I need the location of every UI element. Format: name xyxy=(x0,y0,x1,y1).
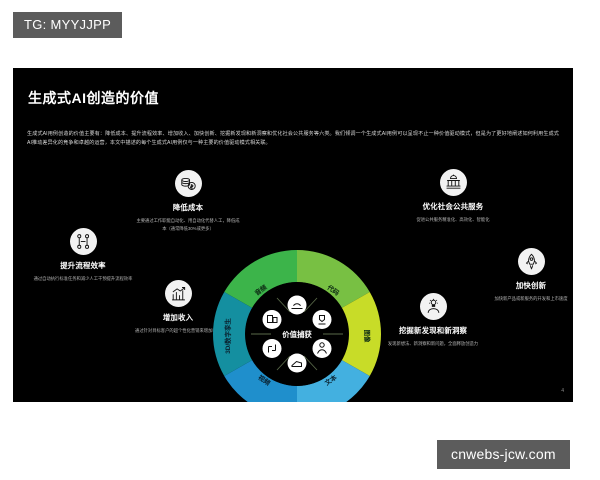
growth-chart-icon xyxy=(165,280,192,307)
donut-center-label: 价值捕获 xyxy=(282,330,312,339)
callout-public-service: 优化社会公共服务 促进公共服务精准化、高效化、智能化 xyxy=(401,169,505,224)
callout-description: 促进公共服务精准化、高效化、智能化 xyxy=(401,216,505,224)
presentation-slide: 生成式AI创造的价值 生成式AI用例创造的价值主要有：降低成本、提升流程效率、增… xyxy=(13,68,573,402)
rocket-icon xyxy=(518,248,545,275)
text-document-icon[interactable] xyxy=(288,354,307,373)
audio-wave-icon[interactable] xyxy=(288,296,307,315)
callout-description: 加快新产品或新服务的开发和上市速度 xyxy=(479,295,573,303)
screenshot-root: TG: MYYJJPP 生成式AI创造的价值 生成式AI用例创造的价值主要有：降… xyxy=(0,0,600,480)
callout-description: 主要通过工作职能自动化、用自动化代替人工，降低成本（通常降低30%或更多） xyxy=(136,217,240,232)
callout-title: 降低成本 xyxy=(136,202,240,213)
video-play-icon[interactable] xyxy=(263,339,282,358)
callout-new-insights: 挖掘新发现和新洞察 发现新想法、新洞察和新问题，全面释放创造力 xyxy=(381,293,485,348)
image-photo-icon[interactable] xyxy=(313,339,332,358)
callout-icon-wrap xyxy=(136,170,240,197)
callout-icon-wrap xyxy=(479,248,573,275)
slide-title: 生成式AI创造的价值 xyxy=(28,88,159,108)
site-watermark-badge: cnwebs-jcw.com xyxy=(437,440,570,469)
coins-money-icon xyxy=(175,170,202,197)
donut-svg: 音频 代码 图像 文本 视频 3D/数字孪生 xyxy=(211,248,383,402)
callout-process-efficiency: 提升流程效率 通过自动执行标准任务和减少人工干预提升流程效率 xyxy=(31,228,135,283)
callout-icon-wrap xyxy=(31,228,135,255)
donut-label-5: 3D/数字孪生 xyxy=(223,318,232,354)
lightbulb-person-icon xyxy=(420,293,447,320)
code-brackets-icon[interactable] xyxy=(313,310,332,329)
callout-accelerate-innovation: 加快创新 加快新产品或新服务的开发和上市速度 xyxy=(479,248,573,303)
callout-title: 加快创新 xyxy=(479,280,573,291)
callout-description: 发现新想法、新洞察和新问题，全面释放创造力 xyxy=(381,340,485,348)
callout-icon-wrap xyxy=(401,169,505,196)
callout-reduce-cost: 降低成本 主要通过工作职能自动化、用自动化代替人工，降低成本（通常降低30%或更… xyxy=(136,170,240,232)
telegram-tag-badge: TG: MYYJJPP xyxy=(13,12,122,38)
donut-label-2: 图像 xyxy=(363,330,372,343)
cube-3d-icon[interactable] xyxy=(263,310,282,329)
callout-title: 提升流程效率 xyxy=(31,260,135,271)
slide-intro-paragraph: 生成式AI用例创造的价值主要有：降低成本、提升流程效率、增加收入、加快创新、挖掘… xyxy=(27,130,559,149)
value-capture-donut-chart: 音频 代码 图像 文本 视频 3D/数字孪生 xyxy=(211,248,383,402)
government-building-icon xyxy=(440,169,467,196)
callout-icon-wrap xyxy=(381,293,485,320)
callout-title: 优化社会公共服务 xyxy=(401,201,505,212)
process-flow-icon xyxy=(70,228,97,255)
callout-description: 通过自动执行标准任务和减少人工干预提升流程效率 xyxy=(31,275,135,283)
slide-page-number: 4 xyxy=(561,388,564,394)
callout-title: 挖掘新发现和新洞察 xyxy=(381,325,485,336)
